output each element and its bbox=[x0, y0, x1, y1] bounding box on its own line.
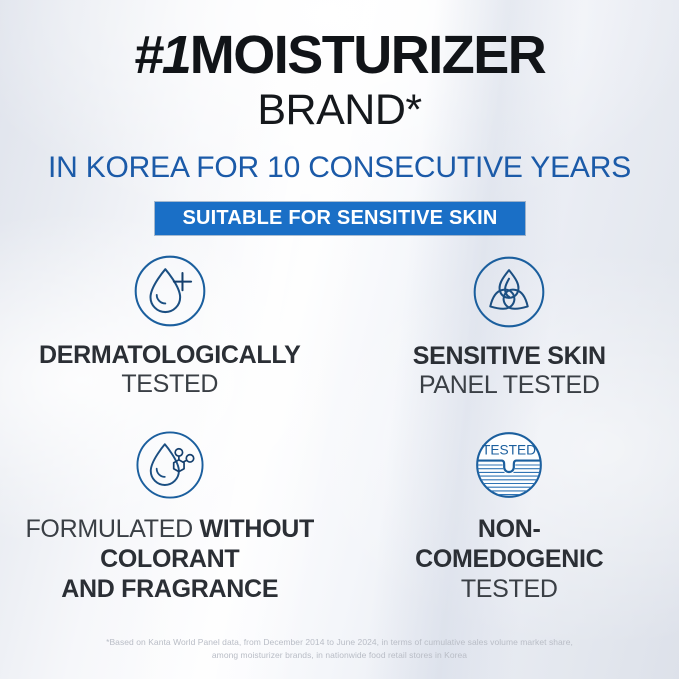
claim-label-regular: TESTED bbox=[461, 575, 558, 603]
three-leaf-icon bbox=[470, 253, 548, 331]
suitable-for-sensitive-skin-badge: SUITABLE FOR SENSITIVE SKIN bbox=[155, 202, 525, 235]
claim-label: FORMULATED WITHOUT COLORANT AND FRAGRANC… bbox=[25, 514, 314, 604]
headline-line-2: BRAND* bbox=[0, 85, 679, 135]
claim-dermatologically-tested: DERMATOLOGICALLYTESTED bbox=[0, 252, 340, 428]
claim-label-regular: FORMULATED bbox=[25, 515, 199, 543]
claim-sensitive-skin-panel-tested: SENSITIVE SKINPANEL TESTED bbox=[340, 252, 679, 428]
pore-tested-icon: TESTED bbox=[470, 428, 548, 502]
headline-keyword: MOISTURIZER bbox=[190, 25, 546, 85]
claims-grid: DERMATOLOGICALLYTESTED SENSITIVE SKINPAN… bbox=[0, 252, 679, 604]
product-claims-poster: #1MOISTURIZER BRAND* IN KOREA FOR 10 CON… bbox=[0, 0, 679, 679]
pore-icon-tested-text: TESTED bbox=[482, 443, 536, 458]
footnote-line-2: among moisturizer brands, in nationwide … bbox=[88, 649, 591, 662]
claim-label: SENSITIVE SKINPANEL TESTED bbox=[413, 342, 606, 400]
headline-line-1: #1MOISTURIZER bbox=[0, 26, 679, 84]
claim-label-bold: SENSITIVE SKIN bbox=[413, 342, 606, 370]
droplet-plus-icon bbox=[131, 252, 209, 330]
claim-label-regular: TESTED bbox=[121, 370, 218, 398]
poster-content: #1MOISTURIZER BRAND* IN KOREA FOR 10 CON… bbox=[0, 0, 679, 679]
headline-block: #1MOISTURIZER BRAND* IN KOREA FOR 10 CON… bbox=[0, 26, 679, 186]
footnote-line-1: *Based on Kanta World Panel data, from D… bbox=[88, 636, 591, 649]
footnote: *Based on Kanta World Panel data, from D… bbox=[0, 636, 679, 662]
claim-label-regular: PANEL TESTED bbox=[419, 371, 600, 399]
rank-number: #1 bbox=[134, 25, 190, 85]
claim-label: DERMATOLOGICALLYTESTED bbox=[39, 341, 300, 399]
claim-without-colorant-fragrance: FORMULATED WITHOUT COLORANT AND FRAGRANC… bbox=[0, 428, 340, 604]
droplet-molecule-icon bbox=[131, 428, 209, 502]
claim-label: NON- COMEDOGENICTESTED bbox=[415, 514, 603, 604]
claim-label-bold: DERMATOLOGICALLY bbox=[39, 341, 300, 369]
headline-line-3: IN KOREA FOR 10 CONSECUTIVE YEARS bbox=[0, 150, 679, 186]
claim-non-comedogenic-tested: TESTED NON- COMEDOGENICTESTED bbox=[340, 428, 679, 604]
badge-label: SUITABLE FOR SENSITIVE SKIN bbox=[182, 207, 497, 230]
claim-label-bold: NON- COMEDOGENIC bbox=[415, 515, 603, 573]
